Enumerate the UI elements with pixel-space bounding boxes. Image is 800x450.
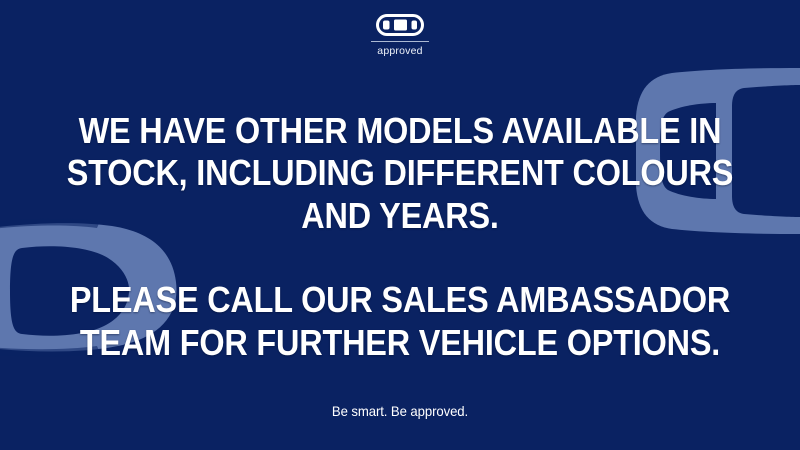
promo-slide: approved We have other models available … <box>0 0 800 450</box>
logo-divider <box>371 41 429 42</box>
message-block: We have other models available in stock,… <box>0 110 800 364</box>
tagline: Be smart. Be approved. <box>24 403 776 419</box>
car-top-view-icon <box>376 14 424 36</box>
brand-lockup: approved <box>0 14 800 57</box>
message-paragraph-1: We have other models available in stock,… <box>65 110 735 237</box>
logo-wordmark: approved <box>377 46 422 57</box>
message-paragraph-2: Please call our sales ambassador team fo… <box>65 279 735 364</box>
